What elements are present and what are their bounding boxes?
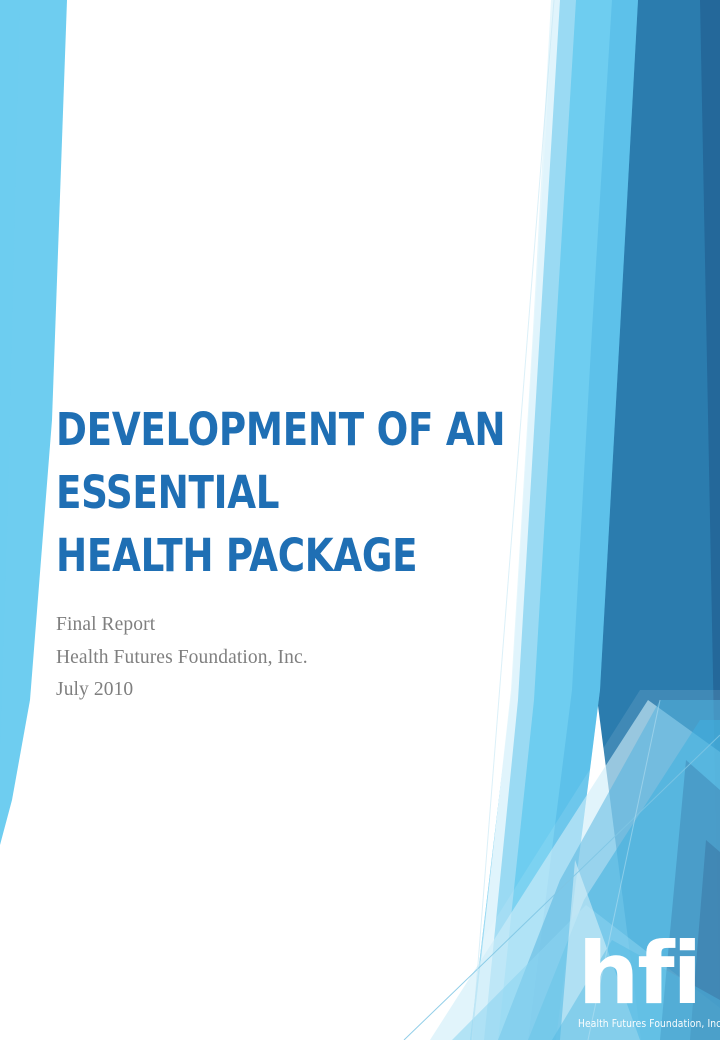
subtitle-report-type: Final Report <box>56 609 596 642</box>
hfi-logo: hfi Health Futures Foundation, Inc. <box>578 938 706 1032</box>
cover-page: DEVELOPMENT OF AN ESSENTIAL HEALTH PACKA… <box>0 0 720 1040</box>
page-title: DEVELOPMENT OF AN ESSENTIAL HEALTH PACKA… <box>56 398 553 587</box>
subtitle-organization: Health Futures Foundation, Inc. <box>56 642 596 675</box>
logo-tagline: Health Futures Foundation, Inc. <box>578 1019 720 1030</box>
hfi-wordmark-icon: hfi <box>578 938 706 1014</box>
subtitle-list: Final Report Health Futures Foundation, … <box>56 609 596 707</box>
cover-text-block: DEVELOPMENT OF AN ESSENTIAL HEALTH PACKA… <box>56 398 596 707</box>
subtitle-date: July 2010 <box>56 674 596 707</box>
